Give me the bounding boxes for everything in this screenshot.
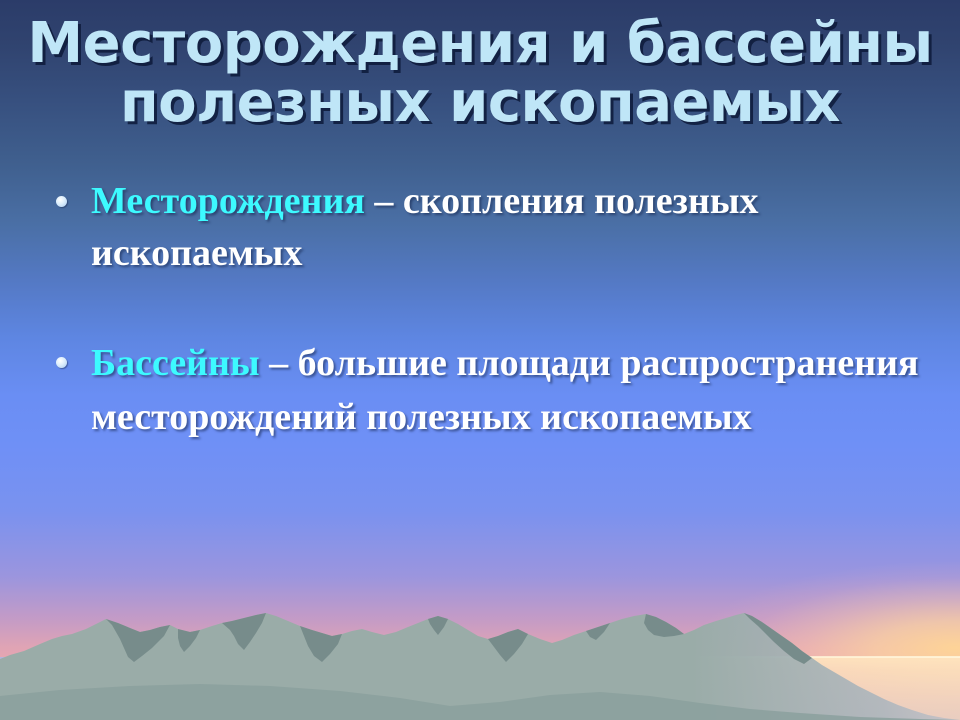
bullet-dot-icon xyxy=(56,357,67,368)
bullet-term-1: Месторождения xyxy=(91,180,365,222)
slide-canvas: Месторождения и бассейны полезных ископа… xyxy=(0,0,960,720)
bullet-item-basseyny: Бассейны – большие площади распространен… xyxy=(44,337,924,443)
bullet-item-mestorozhdeniya: Месторождения – скопления полезных ископ… xyxy=(44,176,924,279)
bullet-dot-icon xyxy=(56,196,67,207)
mountain-range-silhouette xyxy=(0,610,960,720)
bullet-term-2: Бассейны xyxy=(91,342,260,384)
slide-body: Месторождения – скопления полезных ископ… xyxy=(44,176,924,444)
bullet-text-2: Бассейны – большие площади распространен… xyxy=(91,337,924,443)
bullet-text-1: Месторождения – скопления полезных ископ… xyxy=(91,176,924,279)
